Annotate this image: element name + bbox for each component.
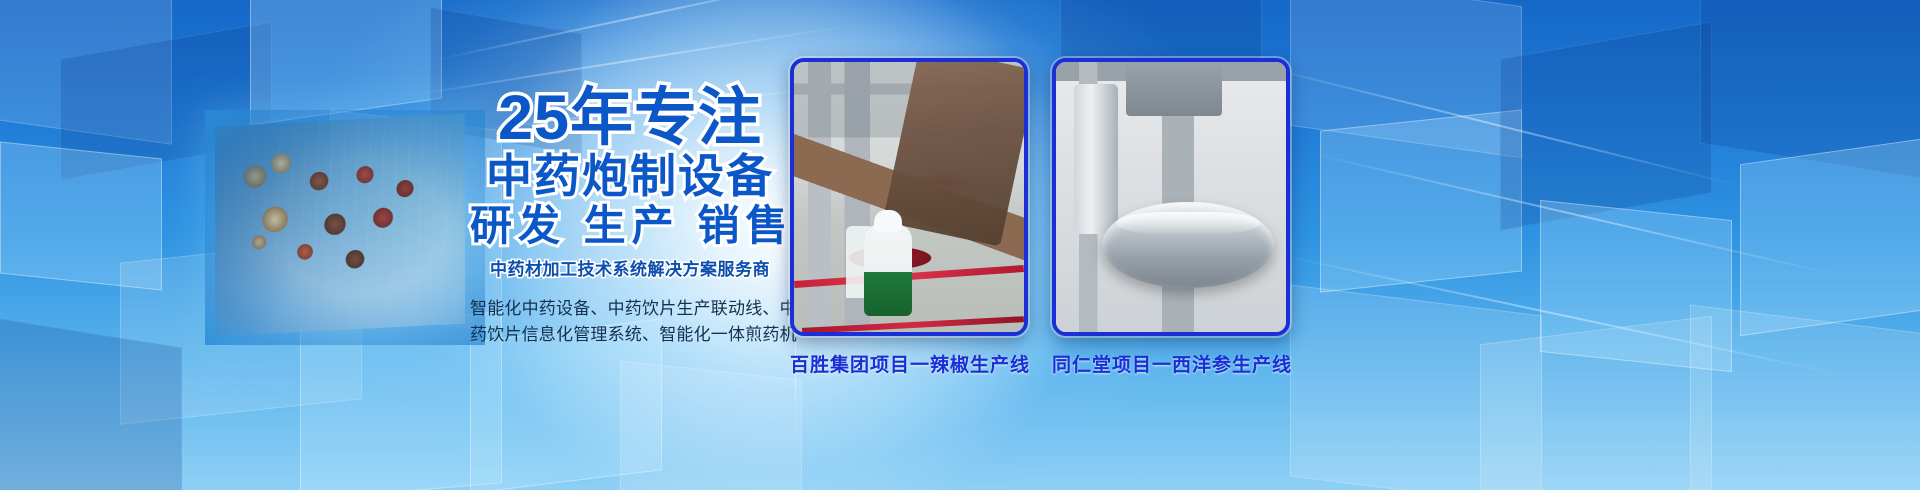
photo-cards: 百胜集团项目一辣椒生产线 同仁堂项目一西洋参生产线 <box>790 58 1282 377</box>
shard <box>1480 316 1712 490</box>
headline-block: 25年专注 中药炮制设备 研发 生产 销售 中药材加工技术系统解决方案服务商 智… <box>470 88 790 349</box>
promo-banner: 25年专注 中药炮制设备 研发 生产 销售 中药材加工技术系统解决方案服务商 智… <box>0 0 1920 490</box>
photo-caption: 同仁堂项目一西洋参生产线 <box>1052 350 1282 377</box>
column-shape <box>1074 84 1118 234</box>
description-line-2: 药饮片信息化管理系统、智能化一体煎药机 <box>470 322 790 348</box>
herb-scroll-collage <box>215 113 465 336</box>
extraction-tank-shape <box>1102 202 1274 288</box>
chili-production-line-photo <box>790 58 1028 336</box>
description-block: 智能化中药设备、中药饮片生产联动线、中 药饮片信息化管理系统、智能化一体煎药机 <box>470 296 790 349</box>
headline-sub: 研发 生产 销售 <box>470 204 790 248</box>
shard <box>620 360 802 490</box>
tagline: 中药材加工技术系统解决方案服务商 <box>470 255 790 280</box>
overhead-beam-shape <box>1126 62 1222 116</box>
shard <box>1320 109 1522 292</box>
headline-main: 中药炮制设备 <box>470 152 790 200</box>
photo-card-ginseng[interactable]: 同仁堂项目一西洋参生产线 <box>1052 58 1282 377</box>
shard <box>250 0 442 125</box>
ginseng-production-line-photo <box>1052 58 1290 336</box>
photo-card-chili[interactable]: 百胜集团项目一辣椒生产线 <box>790 58 1020 377</box>
shard <box>1740 136 1920 336</box>
headline-years: 25年专注 <box>470 88 790 150</box>
shard <box>1500 21 1712 230</box>
shard <box>1690 305 1920 490</box>
photo-caption: 百胜集团项目一辣椒生产线 <box>790 350 1020 377</box>
worker-figure <box>864 224 912 316</box>
description-line-1: 智能化中药设备、中药饮片生产联动线、中 <box>470 296 790 322</box>
